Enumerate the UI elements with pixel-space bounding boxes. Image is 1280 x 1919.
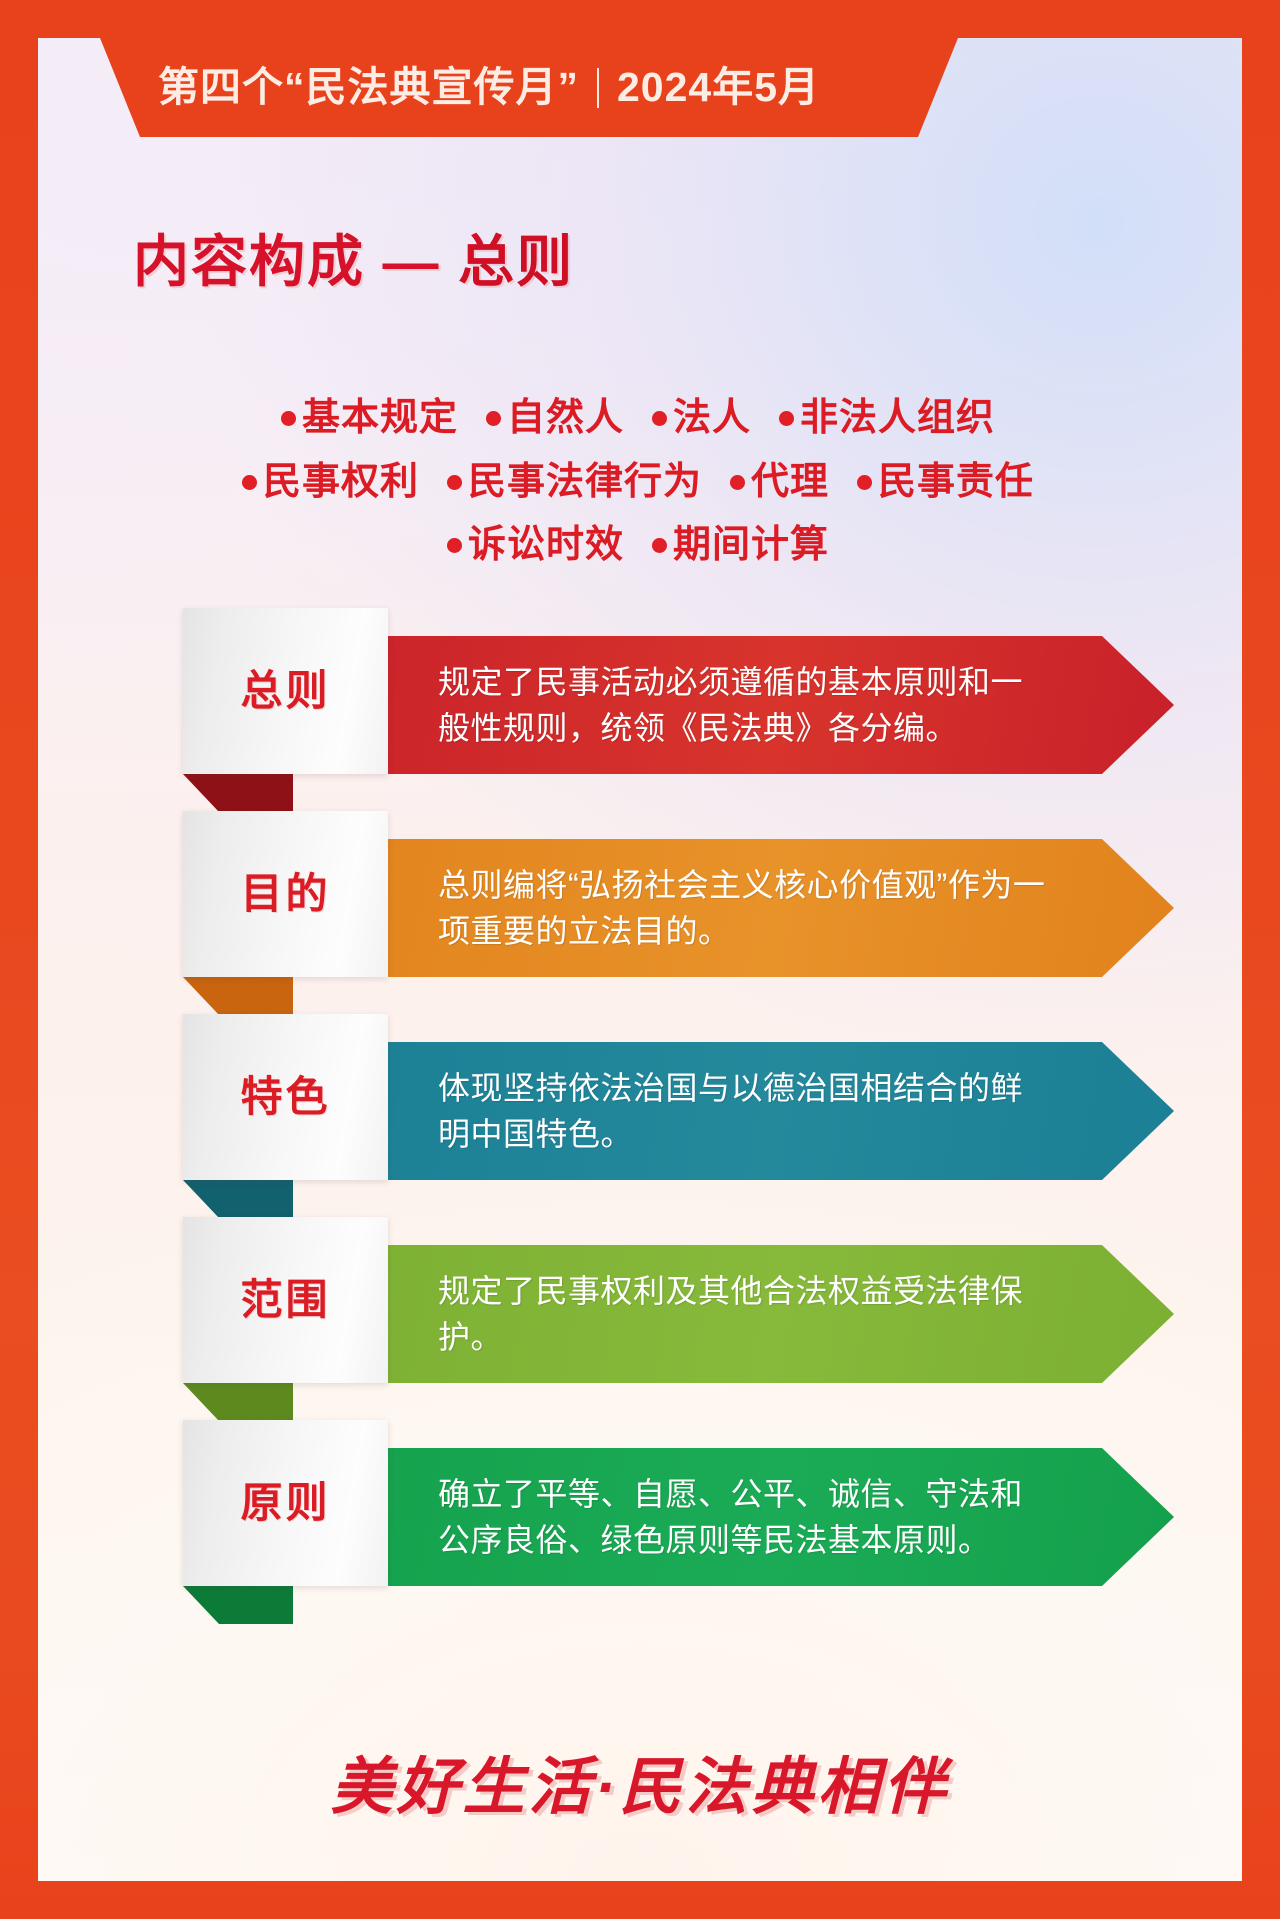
footer-slogan: 美好生活·民法典相伴 xyxy=(38,1757,1242,1819)
arrow-band-zongze: 规定了民事活动必须遵循的基本原则和一般性规则，统领《民法典》各分编。 总则 xyxy=(38,608,1242,774)
poster-inner-panel: 第四个“民法典宣传月” 2024年5月 内容构成 — 总则 基本规定 自然人 法… xyxy=(38,38,1242,1881)
bullet-dot-icon xyxy=(242,475,257,490)
keyword-list: 基本规定 自然人 法人 非法人组织 民事权利 民事法律行为 代理 民事责任 诉讼… xyxy=(98,396,1178,587)
bullet-dot-icon xyxy=(652,538,667,553)
band-label-tab: 范围 xyxy=(183,1217,388,1383)
keyword-row-1: 基本规定 自然人 法人 非法人组织 xyxy=(98,396,1178,442)
keyword-label: 基本规定 xyxy=(302,396,458,442)
band-label: 原则 xyxy=(240,1482,330,1524)
poster-root: 第四个“民法典宣传月” 2024年5月 内容构成 — 总则 基本规定 自然人 法… xyxy=(0,0,1280,1919)
list-item: 代理 xyxy=(730,460,829,506)
keyword-label: 法人 xyxy=(673,396,751,442)
band-description: 规定了民事权利及其他合法权益受法律保护。 xyxy=(288,1268,1174,1361)
band-fold-shadow xyxy=(183,1180,293,1218)
band-description: 规定了民事活动必须遵循的基本原则和一般性规则，统领《民法典》各分编。 xyxy=(288,659,1174,752)
band-description: 总则编将“弘扬社会主义核心价值观”作为一项重要的立法目的。 xyxy=(288,862,1174,955)
header-banner: 第四个“民法典宣传月” 2024年5月 xyxy=(38,38,958,137)
page-title: 内容构成 — 总则 xyxy=(133,234,574,290)
band-label-tab: 原则 xyxy=(183,1420,388,1586)
keyword-label: 民事责任 xyxy=(878,460,1034,506)
band-label: 范围 xyxy=(240,1279,330,1321)
keyword-row-3: 诉讼时效 期间计算 xyxy=(98,523,1178,569)
bullet-dot-icon xyxy=(281,411,296,426)
band-body: 总则编将“弘扬社会主义核心价值观”作为一项重要的立法目的。 xyxy=(288,839,1174,977)
arrow-band-yuanze: 确立了平等、自愿、公平、诚信、守法和公序良俗、绿色原则等民法基本原则。 原则 xyxy=(38,1420,1242,1586)
keyword-label: 诉讼时效 xyxy=(468,523,624,569)
band-fold-shadow xyxy=(183,1383,293,1421)
bullet-dot-icon xyxy=(447,475,462,490)
page-title-prefix: 内容构成 — xyxy=(133,230,458,293)
list-item: 法人 xyxy=(652,396,751,442)
keyword-label: 民事法律行为 xyxy=(468,460,702,506)
keyword-label: 代理 xyxy=(751,460,829,506)
keyword-label: 民事权利 xyxy=(263,460,419,506)
band-label-tab: 总则 xyxy=(183,608,388,774)
list-item: 民事法律行为 xyxy=(447,460,702,506)
band-fold-shadow xyxy=(183,774,293,812)
arrow-band-tese: 体现坚持依法治国与以德治国相结合的鲜明中国特色。 特色 xyxy=(38,1014,1242,1180)
band-body: 确立了平等、自愿、公平、诚信、守法和公序良俗、绿色原则等民法基本原则。 xyxy=(288,1448,1174,1586)
band-fold-shadow xyxy=(183,977,293,1015)
keyword-label: 期间计算 xyxy=(673,523,829,569)
list-item: 非法人组织 xyxy=(779,396,995,442)
arrow-band-list: 规定了民事活动必须遵循的基本原则和一般性规则，统领《民法典》各分编。 总则 总则… xyxy=(38,608,1242,1623)
list-item: 期间计算 xyxy=(652,523,829,569)
list-item: 诉讼时效 xyxy=(447,523,624,569)
bullet-dot-icon xyxy=(779,411,794,426)
band-label: 总则 xyxy=(240,670,330,712)
bullet-dot-icon xyxy=(447,538,462,553)
band-description: 体现坚持依法治国与以德治国相结合的鲜明中国特色。 xyxy=(288,1065,1174,1158)
bullet-dot-icon xyxy=(486,411,501,426)
header-title: 第四个“民法典宣传月” 2024年5月 xyxy=(158,67,820,108)
header-divider-icon xyxy=(597,68,599,108)
band-fold-shadow xyxy=(183,1586,293,1624)
band-label-tab: 目的 xyxy=(183,811,388,977)
list-item: 基本规定 xyxy=(281,396,458,442)
band-body: 规定了民事权利及其他合法权益受法律保护。 xyxy=(288,1245,1174,1383)
band-label: 特色 xyxy=(240,1076,330,1118)
header-campaign-text: 第四个“民法典宣传月” xyxy=(158,67,579,108)
bullet-dot-icon xyxy=(857,475,872,490)
band-label: 目的 xyxy=(240,873,330,915)
band-body: 规定了民事活动必须遵循的基本原则和一般性规则，统领《民法典》各分编。 xyxy=(288,636,1174,774)
list-item: 自然人 xyxy=(486,396,624,442)
header-date-text: 2024年5月 xyxy=(617,67,820,108)
keyword-label: 自然人 xyxy=(507,396,624,442)
bullet-dot-icon xyxy=(652,411,667,426)
keyword-label: 非法人组织 xyxy=(800,396,995,442)
list-item: 民事权利 xyxy=(242,460,419,506)
page-title-keyword: 总则 xyxy=(458,230,574,293)
band-description: 确立了平等、自愿、公平、诚信、守法和公序良俗、绿色原则等民法基本原则。 xyxy=(288,1471,1174,1564)
arrow-band-mudi: 总则编将“弘扬社会主义核心价值观”作为一项重要的立法目的。 目的 xyxy=(38,811,1242,977)
list-item: 民事责任 xyxy=(857,460,1034,506)
band-label-tab: 特色 xyxy=(183,1014,388,1180)
band-body: 体现坚持依法治国与以德治国相结合的鲜明中国特色。 xyxy=(288,1042,1174,1180)
keyword-row-2: 民事权利 民事法律行为 代理 民事责任 xyxy=(98,460,1178,506)
bullet-dot-icon xyxy=(730,475,745,490)
arrow-band-fanwei: 规定了民事权利及其他合法权益受法律保护。 范围 xyxy=(38,1217,1242,1383)
